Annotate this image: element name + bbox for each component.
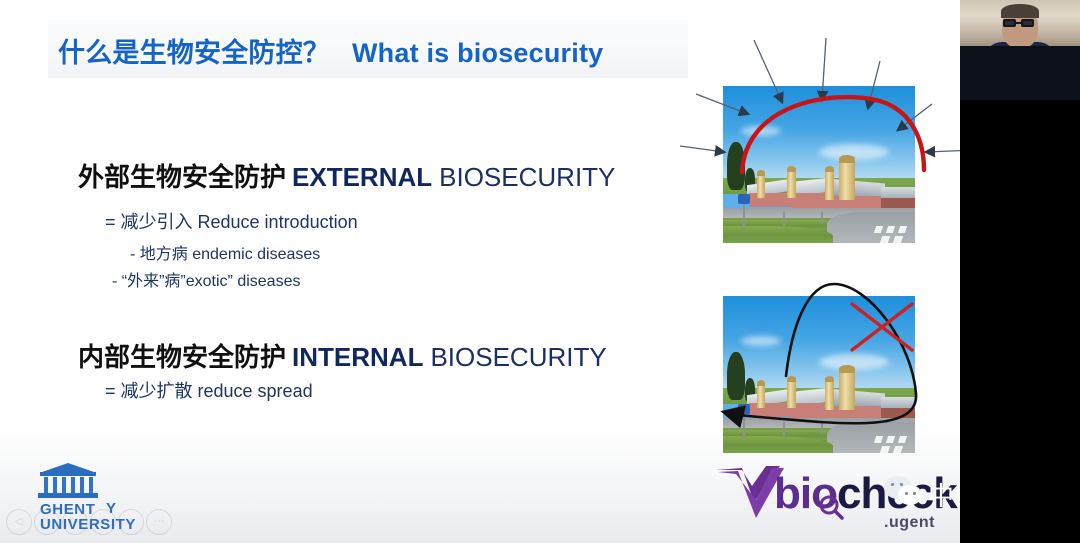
section-sub-internal: = 减少扩散 reduce spread — [105, 377, 313, 403]
sign-post — [783, 212, 785, 226]
silo-cap — [787, 166, 796, 172]
silo — [757, 174, 765, 198]
silo — [839, 370, 855, 410]
silo — [825, 170, 834, 200]
silo — [787, 170, 796, 198]
column-icon — [71, 477, 75, 493]
barn-wall — [749, 193, 791, 207]
road-sign — [738, 194, 750, 204]
magnifier-icon: ⌕ — [128, 517, 134, 528]
silo — [825, 380, 834, 410]
column-icon — [44, 477, 48, 493]
more-options-button[interactable]: ⋯ — [146, 509, 172, 535]
silo-cap — [787, 376, 796, 382]
figure-external-farm-photo — [723, 86, 915, 243]
presentation-media-controls[interactable]: ◁ ▷ ▷ □ ⌕ ⋯ — [2, 509, 172, 537]
foreground-shadow — [960, 46, 1080, 100]
cloud — [741, 336, 781, 346]
silo-cap — [757, 170, 765, 176]
tree — [727, 352, 745, 400]
bullet-exotic-diseases: - “外来”病”exotic” diseases — [112, 267, 300, 291]
grass-strip — [723, 226, 833, 243]
section-sub-external: = 减少引入 Reduce introduction — [105, 208, 358, 234]
heading-rest-internal: BIOSECURITY — [430, 342, 606, 372]
zoom-button[interactable]: ⌕ — [118, 509, 144, 535]
wechat-icon — [884, 476, 924, 510]
cloud — [741, 126, 781, 136]
next-button[interactable]: ▷ — [62, 509, 88, 535]
heading-rest-external: BIOSECURITY — [439, 162, 615, 192]
silo-cap — [757, 380, 765, 386]
silo — [757, 384, 765, 408]
silo — [839, 160, 855, 200]
road-sign — [738, 404, 750, 414]
silo — [787, 380, 796, 408]
stop-button[interactable]: □ — [90, 509, 116, 535]
silo-cap — [839, 365, 855, 373]
sign-post — [821, 212, 823, 224]
grass-strip — [723, 436, 833, 453]
previous-icon: ◁ — [15, 517, 23, 528]
wechat-bubble-front — [898, 485, 922, 505]
plinth-icon — [38, 493, 98, 498]
title-chinese: 什么是生物安全防控？ — [58, 38, 330, 68]
barn-wall — [749, 403, 791, 417]
wechat-eye — [905, 492, 908, 495]
section-heading-internal: 内部生物安全防护INTERNALBIOSECURITY — [78, 337, 607, 374]
tree — [727, 142, 745, 190]
title-english: What is biosecurity — [352, 38, 603, 68]
column-icon — [80, 477, 84, 493]
sign-post — [783, 422, 785, 436]
column-icon — [53, 477, 57, 493]
glasses-left-lens — [1003, 19, 1016, 27]
wechat-eye — [891, 483, 894, 486]
glasses-bridge — [1016, 22, 1021, 24]
ellipsis-icon: ⋯ — [154, 517, 165, 528]
wechat-eye — [900, 483, 903, 486]
wechat-eye — [913, 492, 916, 495]
magnifying-glass-icon — [818, 494, 844, 520]
silo-cap — [825, 166, 834, 172]
architrave-icon — [40, 472, 96, 476]
previous-button[interactable]: ◁ — [6, 509, 32, 535]
next-icon: ▷ — [71, 517, 79, 528]
column-icon — [62, 477, 66, 493]
silo-cap — [825, 376, 834, 382]
heading-keyword-external: EXTERNAL — [292, 162, 432, 192]
video-sidebar[interactable] — [960, 0, 1080, 543]
column-icon — [89, 477, 93, 493]
heading-chinese-external: 外部生物安全防护 — [78, 162, 286, 192]
page-title: 什么是生物安全防控？What is biosecurity — [58, 31, 603, 70]
silo-cap — [839, 155, 855, 163]
sign-post — [821, 422, 823, 434]
presentation-screen: 什么是生物安全防控？What is biosecurity 外部生物安全防护EX… — [0, 0, 1080, 543]
pediment-icon — [42, 463, 94, 472]
section-heading-external: 外部生物安全防护EXTERNALBIOSECURITY — [78, 157, 615, 194]
play-button[interactable]: ▷ — [34, 509, 60, 535]
figure-internal-farm-photo — [723, 296, 915, 453]
play-icon: ▷ — [43, 517, 51, 528]
participant-hair — [1001, 4, 1039, 18]
participant-video-tile[interactable] — [960, 0, 1080, 100]
heading-keyword-internal: INTERNAL — [292, 342, 423, 372]
heading-chinese-internal: 内部生物安全防护 — [78, 342, 286, 372]
glasses-right-lens — [1021, 19, 1034, 27]
bullet-endemic-diseases: - 地方病 endemic diseases — [130, 240, 320, 264]
stop-icon: □ — [100, 517, 107, 528]
